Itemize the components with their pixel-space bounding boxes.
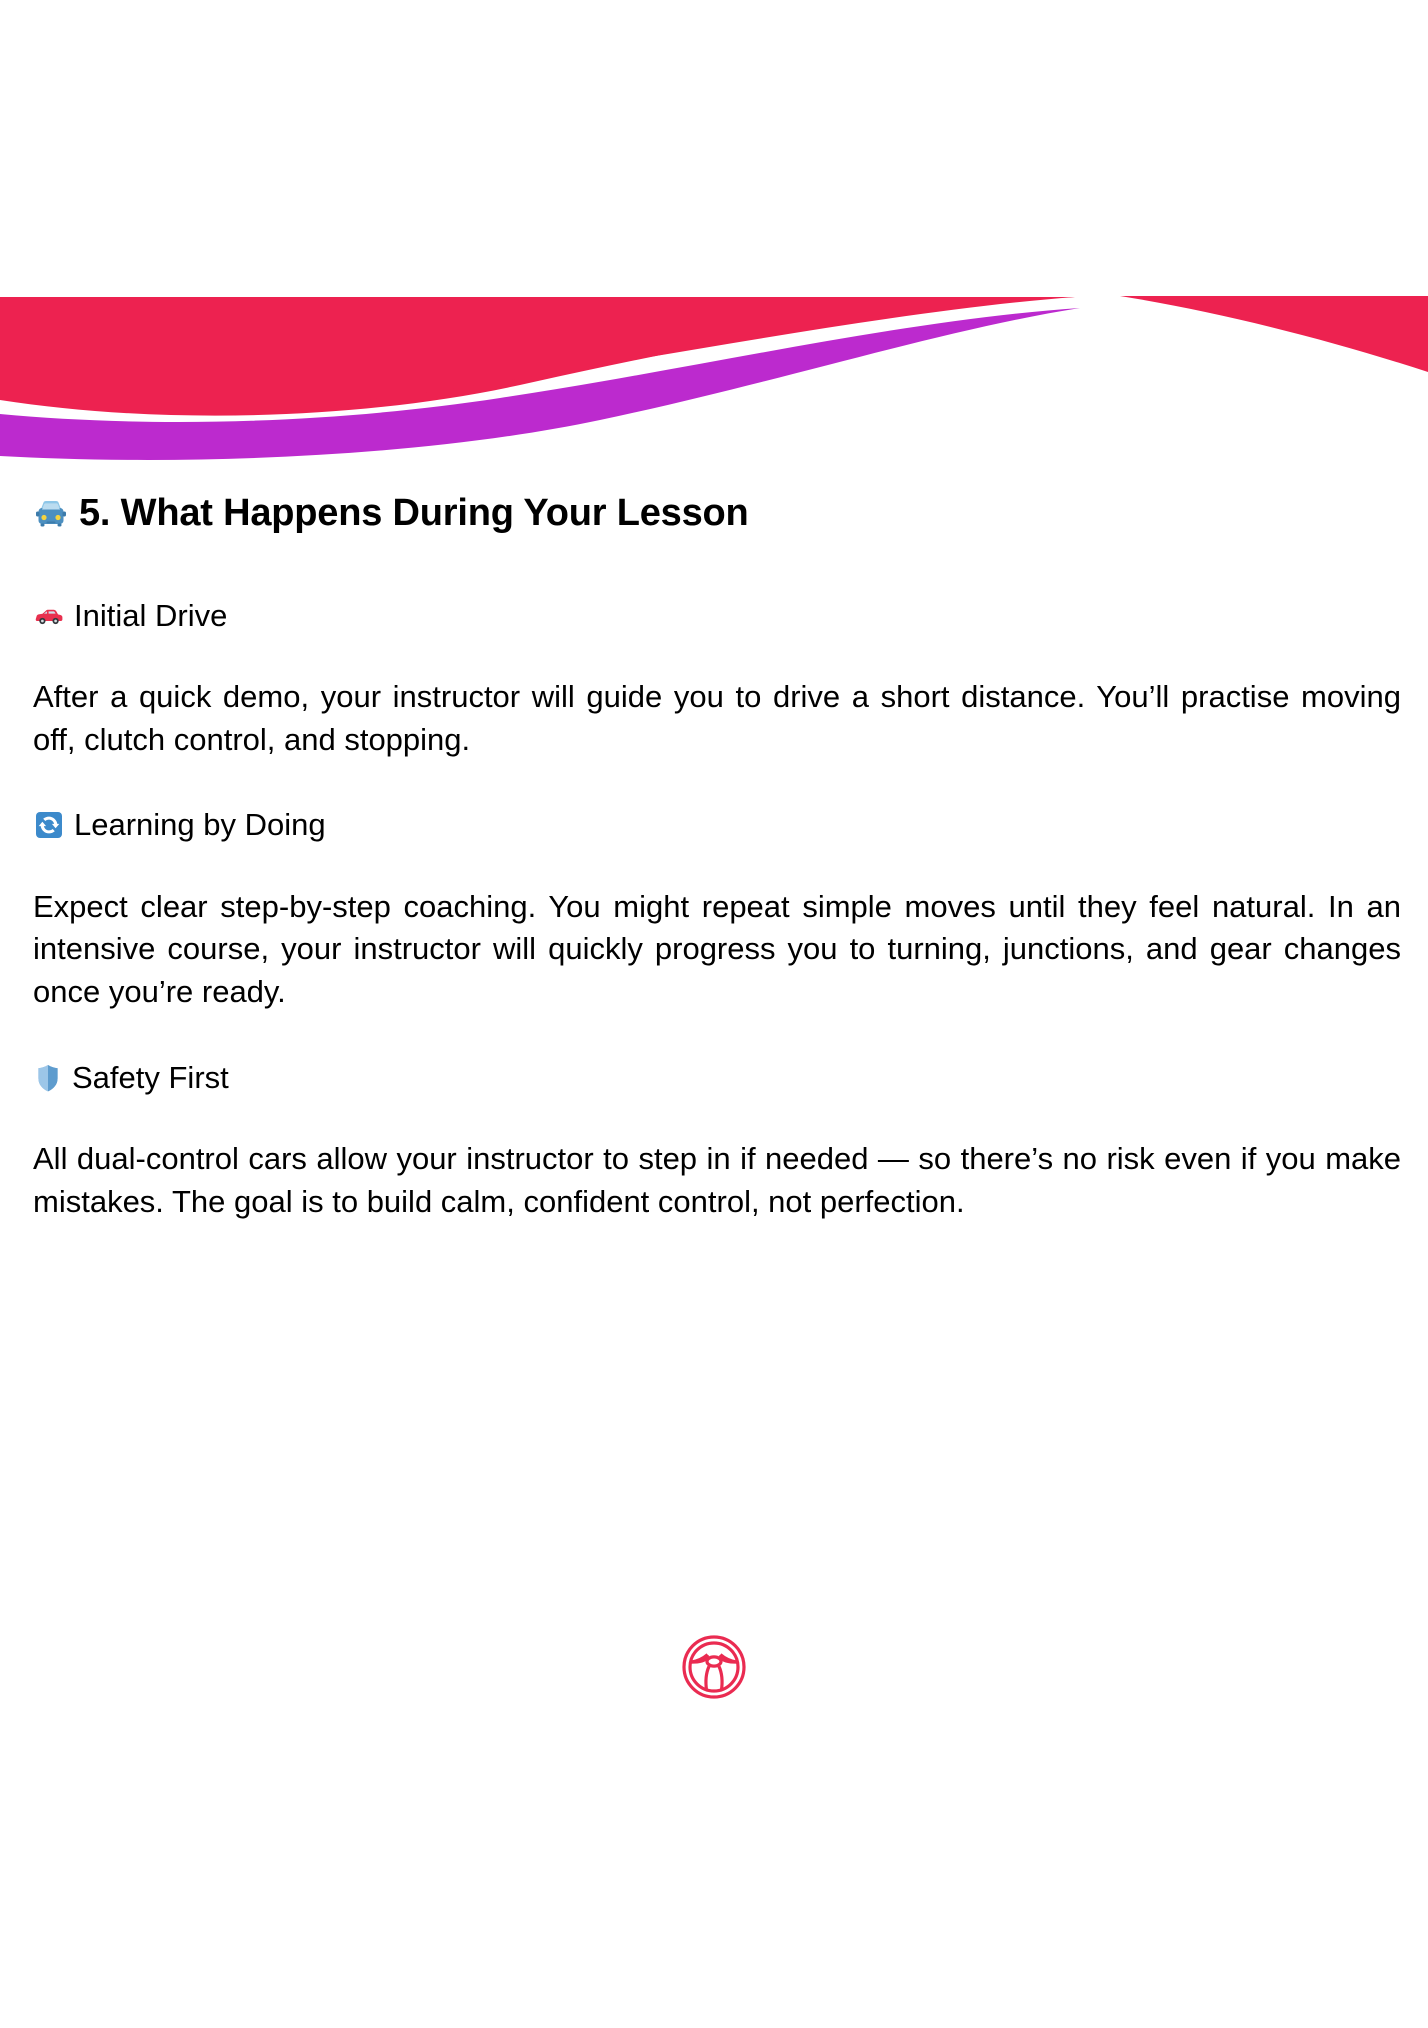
blue-car-front-icon	[33, 496, 69, 532]
section-heading-text: Initial Drive	[74, 596, 227, 636]
section-heading-safety-first: Safety First	[33, 1058, 1401, 1098]
section-heading-text: Learning by Doing	[74, 805, 326, 845]
section-body-safety-first: All dual-control cars allow your instruc…	[33, 1138, 1401, 1224]
red-wave-upper-shape	[0, 297, 1075, 409]
page-title: 5. What Happens During Your Lesson	[33, 490, 1401, 538]
section-learning-by-doing: Learning by Doing Expect clear step-by-s…	[33, 805, 1401, 1014]
header-banner	[0, 0, 1428, 470]
section-heading-initial-drive: Initial Drive	[33, 596, 1401, 636]
footer-logo	[0, 1630, 1428, 1704]
steering-wheel-icon	[677, 1630, 751, 1704]
page-content: 5. What Happens During Your Lesson Initi…	[33, 490, 1401, 1224]
section-heading-text: Safety First	[72, 1058, 229, 1098]
blue-shield-icon	[33, 1062, 63, 1094]
page-title-text: 5. What Happens During Your Lesson	[79, 490, 749, 538]
section-heading-learning-by-doing: Learning by Doing	[33, 805, 1401, 845]
section-initial-drive: Initial Drive After a quick demo, your i…	[33, 596, 1401, 762]
purple-wave-shape	[0, 308, 1080, 460]
red-car-side-icon	[33, 600, 65, 632]
section-body-initial-drive: After a quick demo, your instructor will…	[33, 676, 1401, 762]
section-body-learning-by-doing: Expect clear step-by-step coaching. You …	[33, 886, 1401, 1014]
refresh-arrows-icon	[33, 809, 65, 841]
section-safety-first: Safety First All dual-control cars allow…	[33, 1058, 1401, 1224]
red-wave-shape	[0, 297, 1075, 416]
red-right-wedge-shape	[1120, 296, 1428, 372]
